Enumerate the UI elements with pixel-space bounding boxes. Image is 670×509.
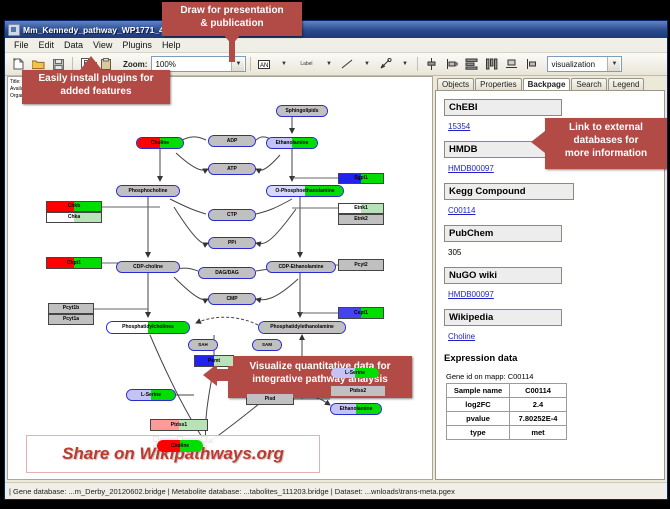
table-row: log2FC 2.4: [447, 398, 567, 412]
node-label: PPi: [228, 241, 236, 246]
callout-link-line1: Link to external: [545, 121, 667, 134]
metabolite-node-sam[interactable]: SAM: [252, 339, 282, 351]
label-dropdown-icon[interactable]: ▼: [320, 56, 337, 72]
node-label: Ptdss1: [171, 423, 187, 428]
gene-node-chkb[interactable]: Chkb: [46, 201, 102, 212]
zoom-value: 100%: [155, 60, 175, 69]
node-label: ATP: [227, 167, 237, 172]
align-center-icon[interactable]: [422, 55, 441, 74]
metabolite-node-ppi[interactable]: PPi: [208, 237, 256, 249]
align-rows-icon[interactable]: [462, 55, 481, 74]
align-bottom-icon[interactable]: [502, 55, 521, 74]
node-label: CDP-Ethanolamine: [278, 265, 323, 270]
table-row: pvalue 7.80252E-4: [447, 412, 567, 426]
status-bar-text: | Gene database: ...m_Derby_20120602.bri…: [9, 487, 455, 496]
gene-node-pcyt1a[interactable]: Pcyt1a: [48, 314, 94, 325]
gene-id-on-mapp-label: Gene id on mapp: C00114: [446, 372, 656, 381]
node-label: Phosphatidylcholines: [122, 325, 174, 330]
node-label: Chkb: [68, 204, 81, 209]
metabolite-node-sphingolipids[interactable]: Sphingolipids: [276, 105, 328, 117]
node-label: ADP: [227, 139, 238, 144]
expr-key-pvalue: pvalue: [447, 412, 510, 426]
menu-item-help[interactable]: Help: [157, 40, 186, 50]
tab-properties[interactable]: Properties: [475, 78, 521, 90]
db-link-kegg-compound[interactable]: C00114: [448, 206, 475, 215]
callout-install-plugins: Easily install plugins for added feature…: [22, 70, 170, 104]
node-label: SAM: [262, 343, 272, 348]
callout-link-line2: databases for: [545, 134, 667, 147]
node-label: Ptdss2: [350, 389, 366, 394]
metabolite-node-cmp[interactable]: CMP: [208, 293, 256, 305]
node-label: DAG/DAG: [215, 271, 239, 276]
align-left-icon[interactable]: [442, 55, 461, 74]
node-label: Etnk1: [354, 206, 368, 211]
align-right-icon[interactable]: [522, 55, 541, 74]
tab-backpage[interactable]: Backpage: [523, 78, 571, 90]
expr-value-log2fc: 2.4: [510, 398, 567, 412]
node-label: Sphingolipids: [285, 109, 318, 114]
node-label: CDP-choline: [133, 265, 163, 270]
menu-item-file[interactable]: File: [9, 40, 34, 50]
callout-link-stem: [540, 136, 548, 148]
table-row: type met: [447, 426, 567, 440]
gene-node-etnk2[interactable]: Etnk2: [338, 214, 384, 225]
metabolite-node-choline[interactable]: Choline: [136, 137, 184, 149]
callout-plugins-line1: Easily install plugins for: [22, 72, 170, 85]
tab-legend[interactable]: Legend: [608, 78, 645, 90]
node-label: L-Serine: [345, 371, 365, 376]
node-label: Pemt: [208, 359, 220, 364]
node-label: Choline: [171, 444, 189, 449]
node-label: Chka: [68, 215, 80, 220]
gene-node-pemt[interactable]: Pemt: [194, 355, 234, 367]
app-icon: [8, 24, 20, 36]
expression-data-table: Sample name C00114 log2FC 2.4 pvalue 7.8…: [446, 383, 567, 440]
callout-draw-for-publication: Draw for presentation & publication: [162, 2, 302, 36]
metabolite-node-sah[interactable]: SAH: [188, 339, 218, 351]
metabolite-node-phosphocholine[interactable]: Phosphocholine: [116, 185, 180, 197]
node-label: Etnk2: [354, 217, 368, 222]
visualization-value: visualization: [551, 60, 595, 69]
expr-value-sample-name: C00114: [510, 384, 567, 398]
node-label: Chpt1: [67, 261, 81, 266]
gene-node-pisd[interactable]: Pisd: [246, 393, 294, 405]
metabolite-node-atp[interactable]: ATP: [208, 163, 256, 175]
db-link-nugo-wiki[interactable]: HMDB00097: [448, 290, 494, 299]
interaction-icon[interactable]: [376, 55, 395, 74]
screen: Mm_Kennedy_pathway_WP1771_45176.gpml Fil…: [0, 0, 670, 509]
node-label: Phosphatidylethanolamine: [270, 325, 334, 330]
gene-node-ptdss1[interactable]: Ptdss1: [150, 419, 208, 431]
node-label: Ethanolamine: [276, 141, 309, 146]
pathway-canvas[interactable]: Title: Availa Organi: [7, 76, 433, 480]
visualization-combobox[interactable]: visualization ▼: [547, 56, 622, 72]
tab-search[interactable]: Search: [571, 78, 606, 90]
metabolite-node-ctp[interactable]: CTP: [208, 209, 256, 221]
callout-draw-line2: & publication: [162, 17, 302, 30]
db-link-hmdb[interactable]: HMDB00097: [448, 164, 494, 173]
expr-key-type: type: [447, 426, 510, 440]
expr-value-type: met: [510, 426, 567, 440]
metabolite-node-ethanolamine[interactable]: Ethanolamine: [266, 137, 318, 149]
toolbar-separator-2: [250, 57, 251, 71]
metabolite-node-o-phosphoethanolamine[interactable]: O-Phosphoethanolamine: [266, 185, 344, 197]
node-label: Phosphocholine: [129, 189, 168, 194]
tab-objects[interactable]: Objects: [437, 78, 474, 90]
node-label: Pcyt1b: [63, 306, 79, 311]
node-label: O-Phosphoethanolamine: [275, 189, 334, 194]
db-header-chebi: ChEBI: [444, 99, 562, 116]
callout-visualize-stem: [216, 369, 230, 381]
metabolite-node-cdp-choline[interactable]: CDP-choline: [116, 261, 180, 273]
expr-key-log2fc: log2FC: [447, 398, 510, 412]
expression-data-heading: Expression data: [444, 353, 656, 364]
metabolite-node-l-serine[interactable]: L-Serine: [126, 389, 176, 401]
gene-node-cept1[interactable]: Cept1: [338, 307, 384, 319]
expr-value-pvalue: 7.80252E-4: [510, 412, 567, 426]
callout-link-external-databases: Link to external databases for more info…: [545, 118, 667, 169]
db-header-nugo-wiki: NuGO wiki: [444, 267, 562, 284]
db-value-pubchem: 305: [448, 248, 461, 257]
menu-item-edit[interactable]: Edit: [34, 40, 60, 50]
line-icon[interactable]: [338, 55, 357, 74]
node-label: Pcyt2: [354, 263, 367, 268]
svg-text:AN: AN: [260, 63, 268, 69]
align-columns-icon[interactable]: [482, 55, 501, 74]
metabolite-node-phosphatidylcholines[interactable]: Phosphatidylcholines: [106, 321, 190, 334]
node-label: CMP: [226, 297, 237, 302]
node-label: Sgpl1: [354, 176, 368, 181]
menu-item-data[interactable]: Data: [59, 40, 88, 50]
gene-node-chpt1[interactable]: Chpt1: [46, 257, 102, 269]
toolbar-separator-3: [417, 57, 418, 71]
db-header-wikipedia: Wikipedia: [444, 309, 562, 326]
callout-visualize-line1: Visualize quantitative data for: [228, 360, 412, 373]
db-header-pubchem: PubChem: [444, 225, 562, 242]
visualization-chevron-down-icon[interactable]: ▼: [607, 57, 620, 71]
datanode-icon[interactable]: AN: [255, 55, 274, 74]
db-link-wikipedia[interactable]: Choline: [448, 332, 475, 341]
expr-key-sample-name: Sample name: [447, 384, 510, 398]
gene-node-sgpl1[interactable]: Sgpl1: [338, 173, 384, 184]
interaction-dropdown-icon[interactable]: ▼: [396, 56, 413, 72]
metabolite-node-ethanolamine[interactable]: Ethanolamine: [330, 403, 382, 415]
title-bar: Mm_Kennedy_pathway_WP1771_45176.gpml: [5, 21, 667, 38]
metabolite-node-dag-dag[interactable]: DAG/DAG: [198, 267, 256, 279]
callout-visualize-arrow-icon: [203, 364, 217, 386]
side-panel-tabs: Objects Properties Backpage Search Legen…: [435, 76, 665, 90]
table-row: Sample name C00114: [447, 384, 567, 398]
gene-node-ptdss2[interactable]: Ptdss2: [330, 385, 386, 397]
node-label: SAH: [198, 343, 208, 348]
menu-item-view[interactable]: View: [88, 40, 117, 50]
node-label: Cept1: [354, 311, 368, 316]
gene-node-chka[interactable]: Chka: [46, 212, 102, 223]
metabolite-node-cdp-ethanolamine[interactable]: CDP-Ethanolamine: [266, 261, 336, 273]
metabolite-node-adp[interactable]: ADP: [208, 135, 256, 147]
node-label: Pisd: [265, 397, 276, 402]
gene-node-pcyt2[interactable]: Pcyt2: [338, 259, 384, 271]
node-label: Pcyt1a: [63, 317, 79, 322]
gene-node-etnk1[interactable]: Etnk1: [338, 203, 384, 214]
menu-bar: File Edit Data View Plugins Help: [5, 38, 667, 53]
callout-plugins-line2: added features: [22, 85, 170, 98]
callout-link-line3: more information: [545, 147, 667, 160]
db-header-kegg-compound: Kegg Compound: [444, 183, 574, 200]
zoom-label: Zoom:: [123, 60, 147, 69]
node-label: CTP: [227, 213, 237, 218]
metabolite-node-choline[interactable]: Choline: [156, 439, 204, 453]
db-link-chebi[interactable]: 15354: [448, 122, 470, 131]
line-dropdown-icon[interactable]: ▼: [358, 56, 375, 72]
node-label: L-Serine: [141, 393, 161, 398]
callout-draw-stem: [229, 34, 235, 62]
status-bar: | Gene database: ...m_Derby_20120602.bri…: [5, 482, 667, 499]
gene-node-pcyt1b[interactable]: Pcyt1b: [48, 303, 94, 314]
node-label: Choline: [151, 141, 169, 146]
menu-item-plugins[interactable]: Plugins: [117, 40, 157, 50]
datanode-dropdown-icon[interactable]: ▼: [275, 56, 292, 72]
node-label: Ethanolamine: [340, 407, 373, 412]
toolbar-separator: [72, 57, 73, 71]
metabolite-node-l-serine[interactable]: L-Serine: [330, 367, 380, 379]
metabolite-node-phosphatidylethanolamine[interactable]: Phosphatidylethanolamine: [258, 321, 346, 334]
callout-plugins-stem: [85, 62, 97, 72]
callout-draw-line1: Draw for presentation: [162, 4, 302, 17]
callout-visualize-line2: integrative pathway analysis: [228, 373, 412, 386]
label-icon[interactable]: Label: [293, 55, 319, 74]
